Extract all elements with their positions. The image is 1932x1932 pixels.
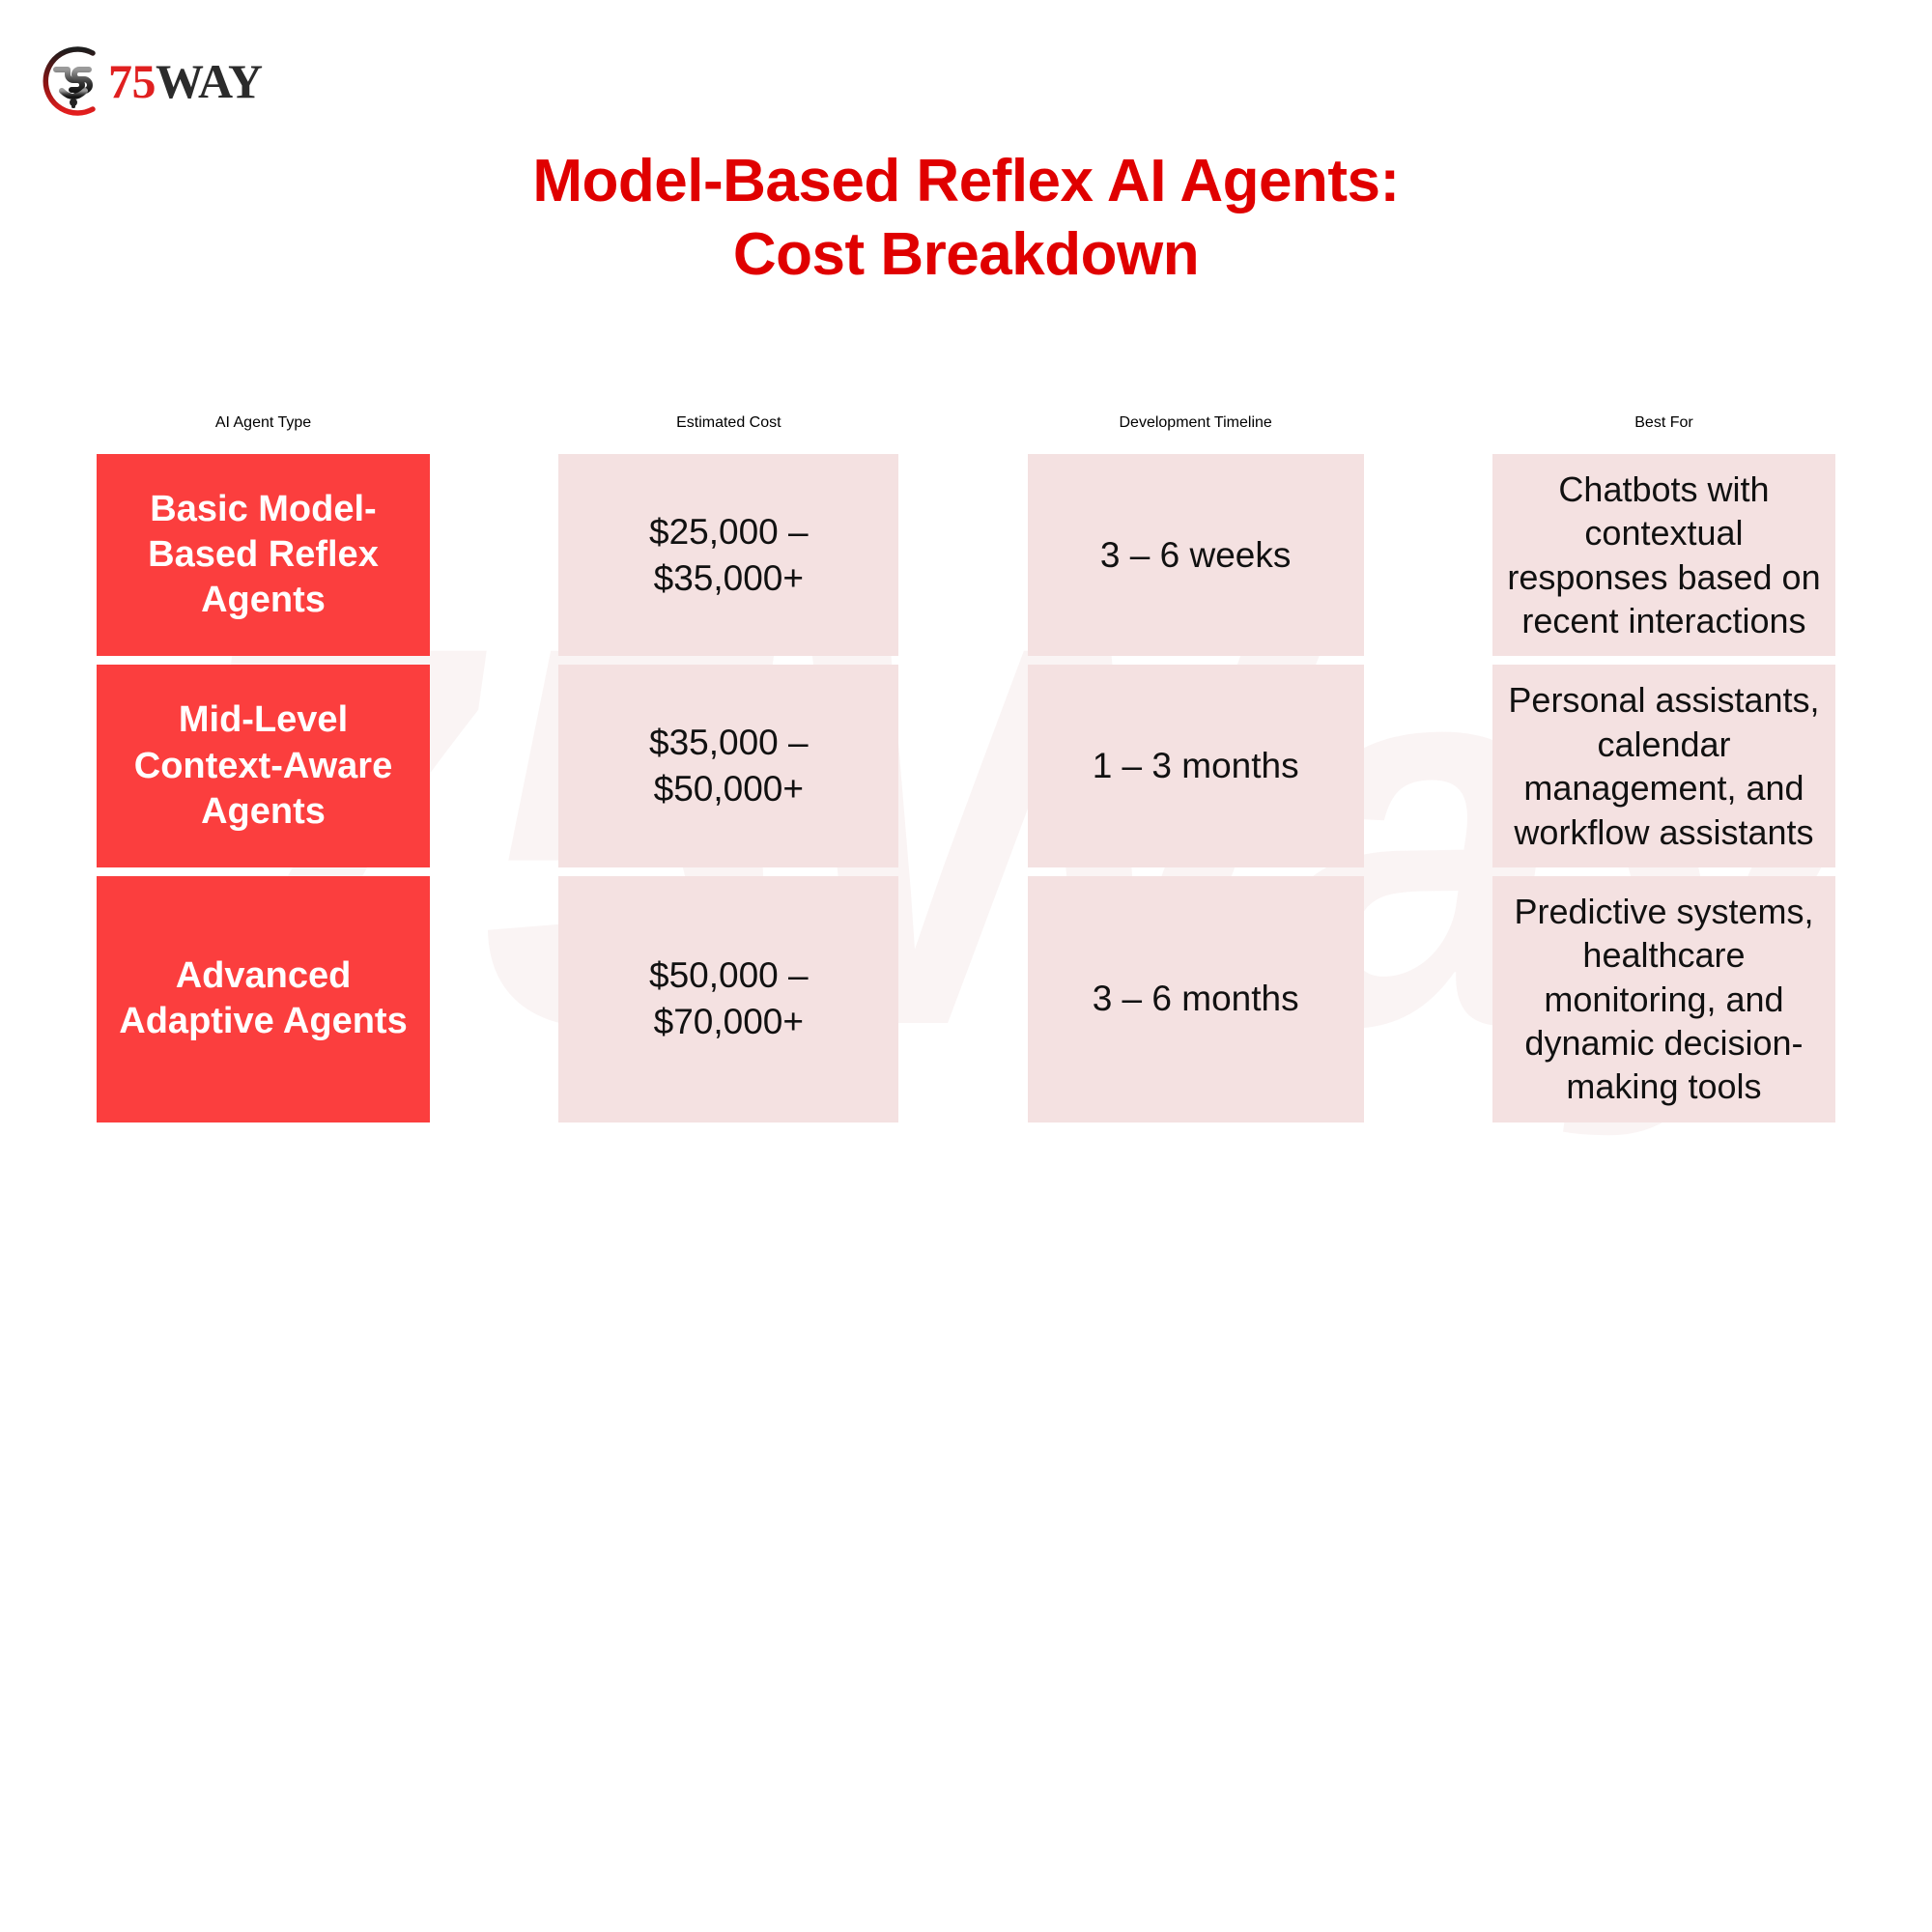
table-row: Chatbots with contextual responses based… xyxy=(1492,454,1835,656)
table-row: Advanced Adaptive Agents xyxy=(97,876,430,1122)
table-row: Mid-Level Context-Aware Agents xyxy=(97,665,430,867)
cell-timeline: 3 – 6 weeks xyxy=(1039,532,1352,579)
table-header-cell: Estimated Cost xyxy=(558,401,898,445)
cell-timeline: 3 – 6 months xyxy=(1039,976,1352,1022)
table-row: $25,000 – $35,000+ xyxy=(558,454,898,656)
page-title-line-1: Model-Based Reflex AI Agents: xyxy=(0,145,1932,218)
cell-best-for: Predictive systems, healthcare monitorin… xyxy=(1504,890,1824,1109)
table-row: 3 – 6 months xyxy=(1028,876,1364,1122)
table-row: Predictive systems, healthcare monitorin… xyxy=(1492,876,1835,1122)
table-row: Personal assistants, calendar management… xyxy=(1492,665,1835,867)
column-header-estimated-cost: Estimated Cost xyxy=(570,414,887,432)
table-header-cell: Best For xyxy=(1492,401,1835,445)
column-header-development-timeline: Development Timeline xyxy=(1039,414,1352,432)
cell-agent-type: Advanced Adaptive Agents xyxy=(108,953,418,1044)
table-header-cell: Development Timeline xyxy=(1028,401,1364,445)
cell-best-for: Chatbots with contextual responses based… xyxy=(1504,468,1824,642)
brand-logo: 75WAY xyxy=(33,37,342,126)
logo-wordmark: 75WAY xyxy=(108,57,263,105)
cell-estimated-cost: $25,000 – $35,000+ xyxy=(570,509,887,602)
page-title-line-2: Cost Breakdown xyxy=(0,218,1932,292)
cell-estimated-cost: $50,000 – $70,000+ xyxy=(570,952,887,1045)
logo-text-75: 75 xyxy=(108,57,156,105)
logo-text-way: WAY xyxy=(156,57,263,105)
column-header-agent-type: AI Agent Type xyxy=(108,414,418,432)
cell-estimated-cost: $35,000 – $50,000+ xyxy=(570,720,887,812)
cell-agent-type: Basic Model-Based Reflex Agents xyxy=(108,487,418,623)
table-row: $35,000 – $50,000+ xyxy=(558,665,898,867)
cell-best-for: Personal assistants, calendar management… xyxy=(1504,678,1824,853)
page-title: Model-Based Reflex AI Agents: Cost Break… xyxy=(0,145,1932,291)
75way-circular-arc-icon xyxy=(33,41,114,122)
column-header-best-for: Best For xyxy=(1504,414,1824,432)
cost-breakdown-table: AI Agent Type Estimated Cost Development… xyxy=(97,401,1835,1122)
table-header-cell: AI Agent Type xyxy=(97,401,430,445)
table-row: 1 – 3 months xyxy=(1028,665,1364,867)
table-row: Basic Model-Based Reflex Agents xyxy=(97,454,430,656)
table-row: 3 – 6 weeks xyxy=(1028,454,1364,656)
cell-agent-type: Mid-Level Context-Aware Agents xyxy=(108,697,418,834)
cell-timeline: 1 – 3 months xyxy=(1039,743,1352,789)
table-row: $50,000 – $70,000+ xyxy=(558,876,898,1122)
